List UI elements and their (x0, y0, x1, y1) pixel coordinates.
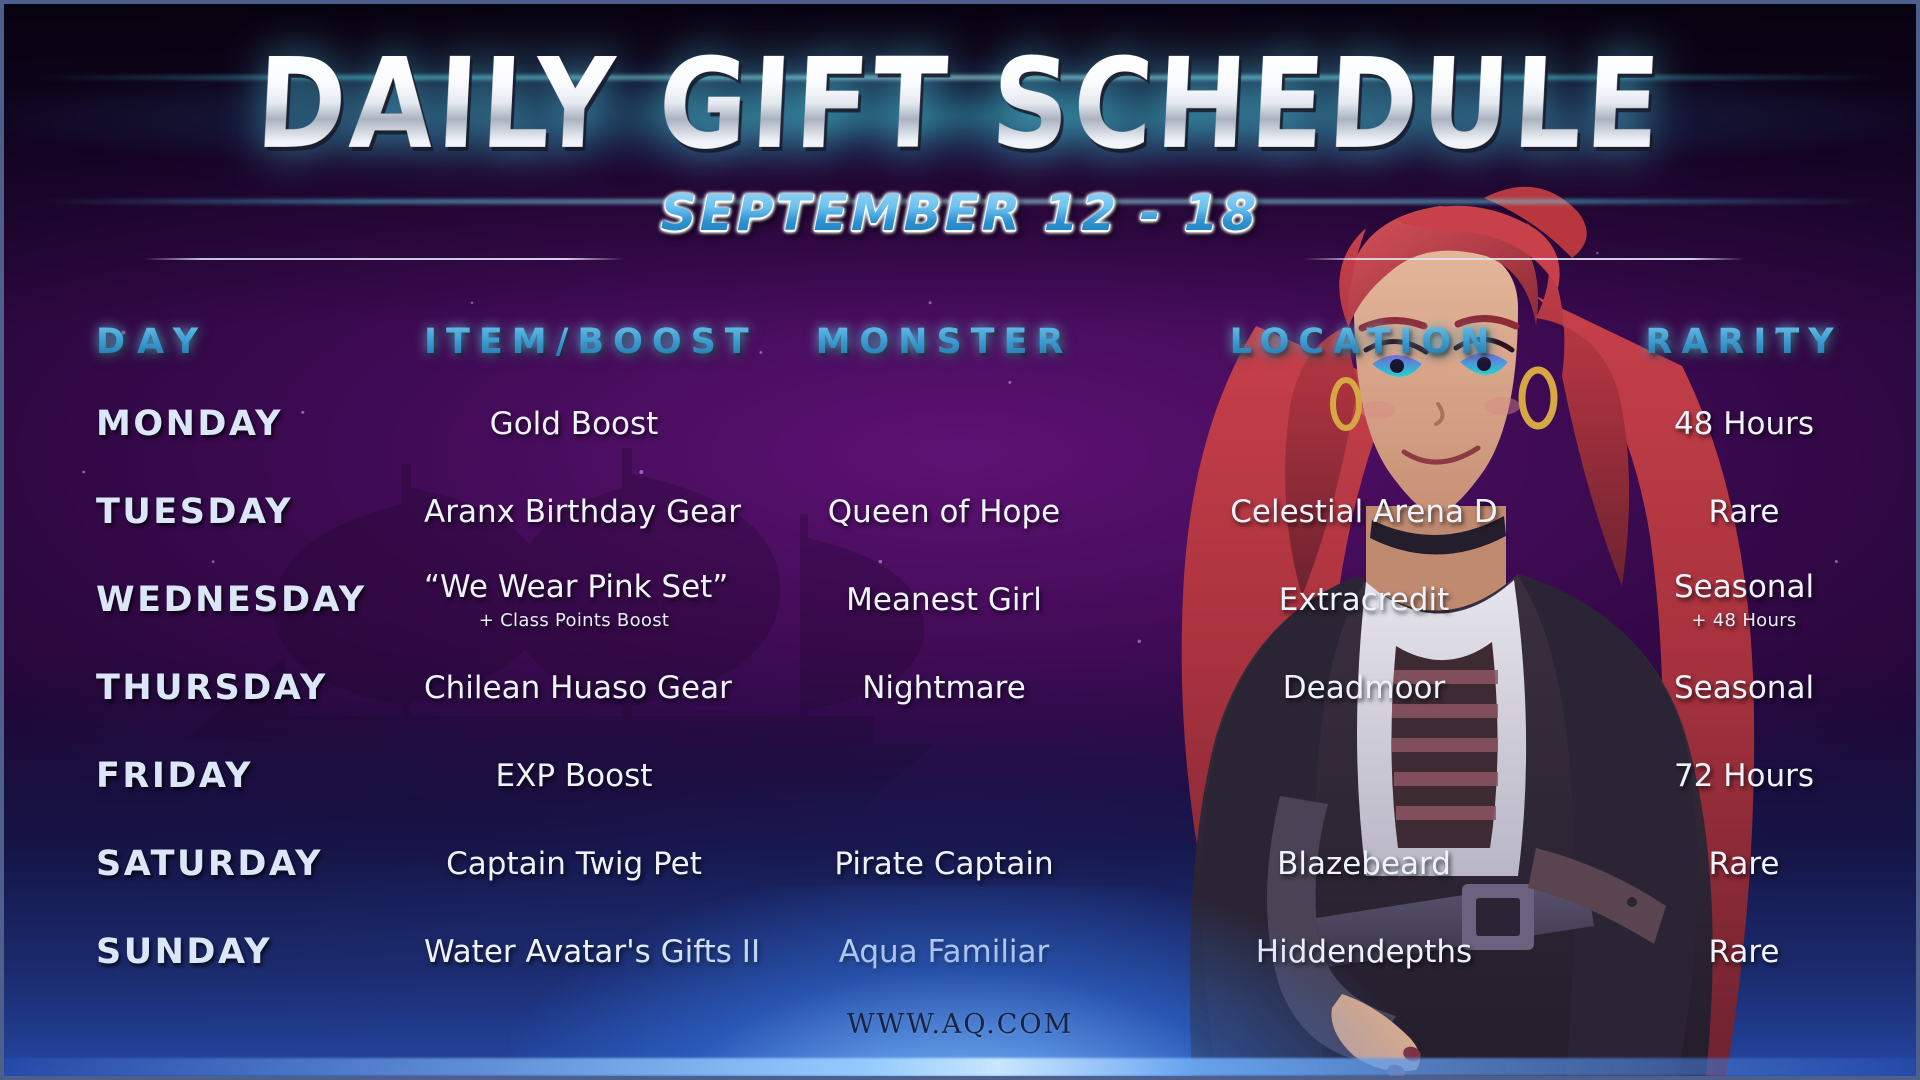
row-rarity: 48 Hours (1564, 406, 1920, 442)
row-location: Deadmoor (1164, 670, 1564, 706)
row-item: Captain Twig Pet (424, 846, 724, 882)
table-row: MONDAY Gold Boost 48 Hours (4, 380, 1920, 468)
row-rarity: Rare (1564, 846, 1920, 882)
website-footer: WWW.AQ.COM (4, 1009, 1916, 1040)
row-location: Celestial Arena D (1164, 494, 1564, 530)
row-rarity: Seasonal+ 48 Hours (1564, 569, 1920, 631)
column-header-monster: MONSTER (724, 322, 1164, 362)
row-monster: Pirate Captain (724, 846, 1164, 882)
row-monster: Nightmare (724, 670, 1164, 706)
row-day: THURSDAY (4, 668, 424, 708)
bottom-light-strip (4, 1058, 1916, 1076)
row-day: TUESDAY (4, 492, 424, 532)
table-row: TUESDAY Aranx Birthday Gear Queen of Hop… (4, 468, 1920, 556)
row-monster: Queen of Hope (724, 494, 1164, 530)
row-item: “We Wear Pink Set”+ Class Points Boost (424, 569, 724, 631)
row-rarity-note: + 48 Hours (1564, 610, 1920, 631)
row-item: Aranx Birthday Gear (424, 494, 724, 530)
page-title: DAILY GIFT SCHEDULE (39, 46, 1880, 164)
row-location: Extracredit (1164, 582, 1564, 618)
table-row: WEDNESDAY “We Wear Pink Set”+ Class Poin… (4, 556, 1920, 644)
column-header-item: ITEM/BOOST (424, 322, 724, 362)
row-monster: Meanest Girl (724, 582, 1164, 618)
row-item-note: + Class Points Boost (424, 610, 724, 631)
row-rarity: Rare (1564, 494, 1920, 530)
row-item: EXP Boost (424, 758, 724, 794)
column-header-rarity: RARITY (1564, 322, 1920, 362)
date-range-subtitle: SEPTEMBER 12 - 18 (4, 184, 1916, 242)
row-item: Gold Boost (424, 406, 724, 442)
divider-right (1304, 258, 1744, 260)
row-day: SATURDAY (4, 844, 424, 884)
bottom-light-glow (510, 886, 1410, 1080)
row-rarity: Rare (1564, 934, 1920, 970)
divider-left (144, 258, 624, 260)
row-item: Chilean Huaso Gear (424, 670, 724, 706)
daily-gift-schedule-poster: DAILY GIFT SCHEDULE SEPTEMBER 12 - 18 DA… (0, 0, 1920, 1080)
table-header-row: DAY ITEM/BOOST MONSTER LOCATION RARITY (4, 304, 1920, 380)
row-day: WEDNESDAY (4, 580, 424, 620)
table-row: FRIDAY EXP Boost 72 Hours (4, 732, 1920, 820)
row-rarity: Seasonal (1564, 670, 1920, 706)
row-day: FRIDAY (4, 756, 424, 796)
row-day: SUNDAY (4, 932, 424, 972)
row-location: Blazebeard (1164, 846, 1564, 882)
column-header-day: DAY (4, 322, 424, 362)
table-row: THURSDAY Chilean Huaso Gear Nightmare De… (4, 644, 1920, 732)
column-header-location: LOCATION (1164, 322, 1564, 362)
row-rarity: 72 Hours (1564, 758, 1920, 794)
row-day: MONDAY (4, 404, 424, 444)
